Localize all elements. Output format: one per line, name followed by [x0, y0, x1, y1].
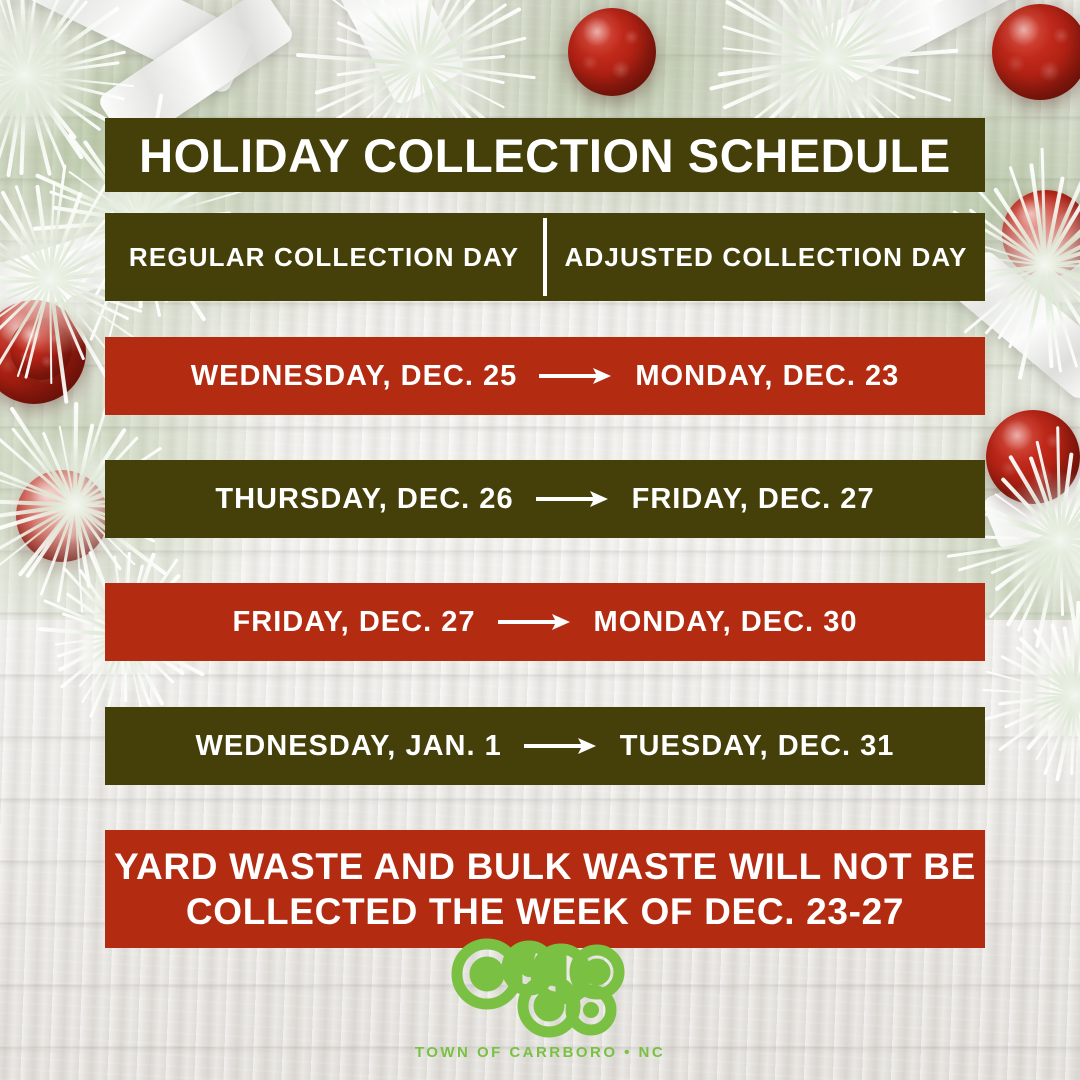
notice-line-1: YARD WASTE AND BULK WASTE WILL NOT BE [114, 844, 976, 889]
page-title: HOLIDAY COLLECTION SCHEDULE [105, 118, 985, 192]
red-berry-ornament-top-right [992, 4, 1080, 100]
logo-tagline: TOWN OF CARRBORO • NC [415, 1044, 665, 1061]
right-arrow-icon [524, 736, 598, 756]
adjusted-collection-day: MONDAY, DEC. 30 [594, 606, 858, 639]
regular-collection-day: THURSDAY, DEC. 26 [215, 483, 513, 516]
adjusted-collection-day: TUESDAY, DEC. 31 [620, 730, 895, 763]
notice-line-2: COLLECTED THE WEEK OF DEC. 23-27 [186, 889, 904, 934]
table-row: THURSDAY, DEC. 26 FRIDAY, DEC. 27 [105, 460, 985, 538]
right-arrow-icon [539, 366, 613, 386]
table-row: WEDNESDAY, DEC. 25 MONDAY, DEC. 23 [105, 337, 985, 415]
red-berry-ornament-top-center [568, 8, 656, 96]
regular-collection-day: WEDNESDAY, DEC. 25 [191, 360, 518, 393]
carrboro-logo: TOWN OF CARRBORO • NC [415, 934, 665, 1061]
regular-collection-day: WEDNESDAY, JAN. 1 [196, 730, 502, 763]
holiday-collection-schedule-graphic: HOLIDAY COLLECTION SCHEDULE REGULAR COLL… [0, 0, 1080, 1080]
adjusted-collection-day: MONDAY, DEC. 23 [635, 360, 899, 393]
table-header-row: REGULAR COLLECTION DAY ADJUSTED COLLECTI… [105, 213, 985, 301]
regular-collection-day: FRIDAY, DEC. 27 [233, 606, 476, 639]
notice-banner: YARD WASTE AND BULK WASTE WILL NOT BE CO… [105, 830, 985, 948]
adjusted-collection-day: FRIDAY, DEC. 27 [632, 483, 875, 516]
table-row: WEDNESDAY, JAN. 1 TUESDAY, DEC. 31 [105, 707, 985, 785]
right-arrow-icon [536, 489, 610, 509]
column-header-adjusted: ADJUSTED COLLECTION DAY [547, 242, 985, 273]
carrboro-wordmark-icon [445, 934, 635, 1040]
table-row: FRIDAY, DEC. 27 MONDAY, DEC. 30 [105, 583, 985, 661]
right-arrow-icon [498, 612, 572, 632]
column-header-regular: REGULAR COLLECTION DAY [105, 242, 543, 273]
